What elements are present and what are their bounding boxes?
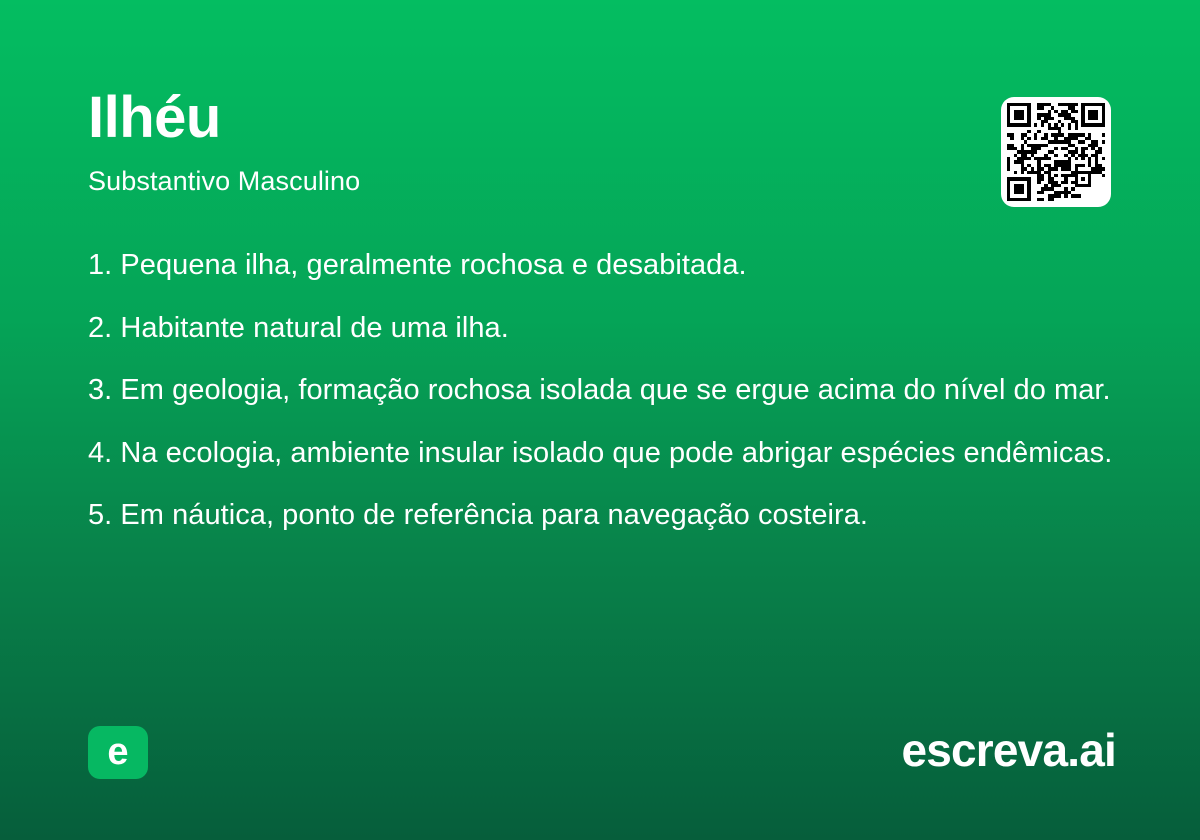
definition-item: 4. Na ecologia, ambiente insular isolado…	[88, 434, 1118, 473]
dictionary-card: Ilhéu Substantivo Masculino 1. Pequena i…	[0, 0, 1200, 840]
word-class-label: Substantivo Masculino	[88, 166, 360, 197]
brand-logo-badge[interactable]: e	[88, 726, 148, 779]
qr-code[interactable]	[1001, 97, 1111, 207]
definition-item: 1. Pequena ilha, geralmente rochosa e de…	[88, 246, 1118, 285]
brand-wordmark: escreva.ai	[901, 727, 1116, 773]
definition-list: 1. Pequena ilha, geralmente rochosa e de…	[88, 246, 1118, 535]
brand-logo-letter: e	[107, 733, 128, 771]
definition-item: 3. Em geologia, formação rochosa isolada…	[88, 371, 1118, 410]
qr-code-modules	[1007, 103, 1105, 201]
definition-item: 5. Em náutica, ponto de referência para …	[88, 496, 1118, 535]
page-title: Ilhéu	[88, 88, 221, 149]
definition-item: 2. Habitante natural de uma ilha.	[88, 309, 1118, 348]
